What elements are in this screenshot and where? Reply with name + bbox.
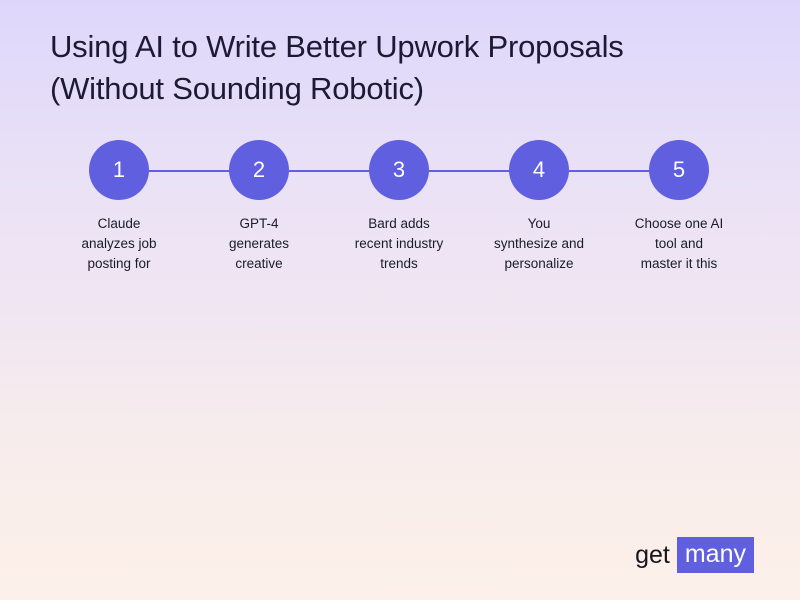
step-circle-3[interactable]: 3 <box>369 140 429 200</box>
logo-word-many: many <box>677 537 754 573</box>
step-number-3: 3 <box>393 159 405 181</box>
step-circle-4[interactable]: 4 <box>509 140 569 200</box>
step-label-3: Bard adds recent industry trends <box>329 214 469 274</box>
page-title: Using AI to Write Better Upwork Proposal… <box>50 26 760 110</box>
logo-word-get: get <box>635 540 677 570</box>
brand-logo: get many <box>635 537 754 573</box>
step-number-4: 4 <box>533 159 545 181</box>
step-number-5: 5 <box>673 159 685 181</box>
flow-step-2[interactable]: 2 GPT-4 generates creative <box>189 140 329 274</box>
step-label-4: You synthesize and personalize <box>469 214 609 274</box>
step-circle-2[interactable]: 2 <box>229 140 289 200</box>
flow-step-1[interactable]: 1 Claude analyzes job posting for <box>49 140 189 274</box>
step-number-1: 1 <box>113 159 125 181</box>
flow-step-4[interactable]: 4 You synthesize and personalize <box>469 140 609 274</box>
flow-step-3[interactable]: 3 Bard adds recent industry trends <box>329 140 469 274</box>
step-circle-1[interactable]: 1 <box>89 140 149 200</box>
step-label-1: Claude analyzes job posting for <box>49 214 189 274</box>
step-label-5: Choose one AI tool and master it this <box>609 214 749 274</box>
step-label-2: GPT-4 generates creative <box>189 214 329 274</box>
step-circle-5[interactable]: 5 <box>649 140 709 200</box>
slide-canvas: Using AI to Write Better Upwork Proposal… <box>0 0 800 600</box>
step-flow-diagram: 1 Claude analyzes job posting for 2 GPT-… <box>49 140 751 290</box>
flow-step-5[interactable]: 5 Choose one AI tool and master it this <box>609 140 749 274</box>
step-number-2: 2 <box>253 159 265 181</box>
